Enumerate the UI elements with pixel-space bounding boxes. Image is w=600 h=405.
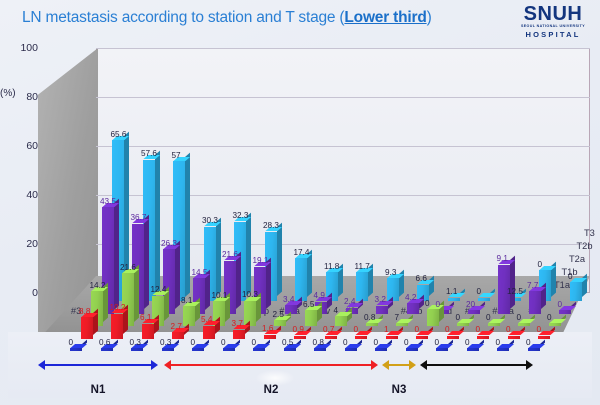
bar-side-face [175,240,180,309]
bar-side-face [277,223,282,297]
bar-value-label: 6.5 [303,300,314,309]
annotation-arrow-head [371,360,378,370]
bar-value-label: 0.3 [160,338,171,347]
bar-value-label: 4.2 [405,293,416,302]
bar-front-face [295,258,307,301]
bar-value-label: 0 [477,287,482,296]
bar-front-face [192,348,204,351]
bar-front-face [538,336,550,339]
bar-front-face [81,317,93,339]
bar-value-label: 12.5 [507,287,523,296]
bar-value-label: 11.7 [355,262,370,271]
y-axis: (%) 020406080100 [0,48,40,308]
bar-value-label: 10.2 [110,303,126,312]
bar-value-label: 4 [334,306,339,315]
bar-front-face [375,348,387,351]
bar-value-label: 9.1 [497,254,508,263]
bar-value-label: 7.7 [527,281,538,290]
annotation-arrow-head [420,360,427,370]
bar-side-face [216,218,221,297]
logo-full-name: SEOUL NATIONAL UNIVERSITY [514,25,592,29]
bar-value-label: 17.4 [294,248,310,257]
bars-layer: 65.657.65730.332.328.317.411.811.79.36.6… [38,48,590,348]
bar-station-4Sa-T1a [497,348,509,351]
y-axis-tick: 80 [2,91,38,103]
bar-value-label: 6.6 [416,274,427,283]
bar-station-4Sb-T1a [406,348,418,351]
bar-front-face [172,332,184,339]
bar-value-label: 3.7 [232,319,243,328]
bar-value-label: 14.5 [192,268,208,277]
bar-value-label: 3.4 [283,295,294,304]
bar-value-label: 4.9 [314,291,325,300]
annotation-arrow-head [526,360,533,370]
bar-front-face [70,348,82,351]
bar-value-label: 2.4 [344,297,355,306]
bar-value-label: 36.7 [131,213,147,222]
y-axis-tick: 20 [2,238,38,250]
bar-value-label: 0 [547,313,552,322]
bar-station-14v-T1a [314,348,326,351]
annotation-arrow-head [151,360,158,370]
bar-front-face [101,348,113,351]
bar-front-face [528,348,540,351]
bar-front-face [131,348,143,351]
bar-front-face [223,348,235,351]
bar-station-5-T1a [162,348,174,351]
bar-station-12a-T2a [305,310,317,326]
bar-side-face [246,213,251,296]
bar-front-face [142,324,154,339]
bar-side-face [582,273,587,296]
bar-station-1-T1a [375,348,387,351]
bar-station-5-T1b [172,332,184,339]
bar-front-face [253,348,265,351]
bar-value-label: 21.6 [120,263,136,272]
bar-station-11p-T3 [295,258,307,301]
bar-value-label: 0 [221,338,226,347]
bar-value-label: 0 [538,260,543,269]
annotation-arrow-head [164,360,171,370]
bar-station-14v-T3 [356,272,368,301]
legend-label-T2b: T2b [577,241,593,251]
bar-value-label: 10.3 [242,290,258,299]
bar-station-9-T2b [376,306,388,314]
bar-station-14v-T2a [335,316,347,326]
bar-station-6-T1a [101,348,113,351]
bar-station-8-T1b [233,330,245,339]
bar-station-7-T1b [203,326,215,339]
y-axis-tick: 100 [2,42,38,54]
bar-station-4Sb-T2a [427,309,439,326]
nodal-group-label-N2: N2 [264,384,279,396]
bar-front-face [111,314,123,339]
y-axis-tick: 60 [2,140,38,152]
nodal-group-label-N1: N1 [91,384,106,396]
bar-front-face [305,310,317,326]
bar-station-1-T2b [407,303,419,313]
bar-value-label: 0 [252,338,257,347]
bar-value-label: 0 [374,338,379,347]
bar-station-4d-T1a [131,348,143,351]
bar-value-label: 9.3 [385,268,396,277]
bar-side-face [185,153,190,297]
bar-front-face [570,282,582,301]
bar-station-3-T1a [70,348,82,351]
bar-front-face [559,310,571,313]
bar-front-face [427,309,439,326]
bar-front-face [335,316,347,326]
title-suffix: ) [427,9,432,26]
bar-value-label: 0 [526,338,531,347]
title-prefix: LN metastasis according to station and T… [22,9,344,26]
bar-front-face [233,330,245,339]
bar-value-label: 2.7 [171,322,182,331]
bar-value-label: 0 [415,325,420,334]
bar-front-face [468,310,480,313]
bar-value-label: 0 [404,338,409,347]
bar-value-label: 14.2 [90,281,106,290]
logo-subtitle: HOSPITAL [514,31,592,39]
bar-front-face [376,306,388,314]
bar-front-face [345,348,357,351]
bar-value-label: 30.3 [202,216,218,225]
bar-front-face [497,348,509,351]
bar-value-label: 12.4 [151,285,167,294]
bar-value-label: 0 [465,338,470,347]
bar-station-12a-T1b [294,336,306,339]
bar-station-2-T2b [559,310,571,313]
bar-station-9-T1a [345,348,357,351]
bar-station-11d-T2b [468,310,480,313]
bar-station-6-T1b [111,314,123,339]
bar-station-3-T1b [81,317,93,339]
bar-side-face [236,252,241,309]
bar-value-label: 0 [343,338,348,347]
bar-value-label: 57.6 [141,149,157,158]
annotation-arrow-head [38,360,45,370]
bar-value-label: 0 [191,338,196,347]
bar-station-4Sa-T2b [529,291,541,313]
bar-front-face [407,303,419,313]
bar-side-face [114,198,119,309]
bar-station-11p-T1a [253,348,265,351]
bar-value-label: 57 [172,151,181,160]
bar-value-label: 43.5 [100,197,116,206]
bar-value-label: 21.6 [222,250,238,259]
logo-mark: SNUH [514,4,592,24]
bar-value-label: 0 [496,338,501,347]
bar-value-label: 0.6 [99,338,110,347]
bar-value-label: 0.8 [313,338,324,347]
bar-value-label: 0 [435,338,440,347]
legend-label-T2a: T2a [569,254,585,264]
bar-front-face [478,298,490,301]
annotation-arrow-line [170,364,372,366]
annotation-arrow-line [44,364,152,366]
bar-value-label: 10.1 [212,291,228,300]
bar-value-label: 0.7 [323,325,334,334]
bar-front-face [436,348,448,351]
bar-value-label: 0 [354,325,359,334]
bar-station-2-T1b [538,336,550,339]
bar-value-label: 0 [69,338,74,347]
bar-front-face [467,348,479,351]
annotation-arrow-head [382,360,389,370]
bar-value-label: 8.1 [181,296,192,305]
bar-value-label: 0 [568,272,573,281]
bar-value-label: 0 [558,300,563,309]
y-axis-tick: 40 [2,189,38,201]
bar-station-10-T1b [477,336,489,339]
bar-station-9-T1b [355,336,367,339]
bar-side-face [510,256,515,309]
bar-value-label: 20 [466,300,475,309]
bar-front-face [477,336,489,339]
bar-value-label: 8.8 [79,307,90,316]
annotation-arrow-line [426,364,527,366]
bar-value-label: 32.3 [233,211,249,220]
bar-value-label: 1.6 [262,324,273,333]
bar-front-face [406,348,418,351]
bar-station-11d-T1a [436,348,448,351]
page-title: LN metastasis according to station and T… [22,9,432,27]
y-axis-tick: 0 [2,287,38,299]
bar-station-4Sb-T1b [416,336,428,339]
annotation-arrow-head [409,360,416,370]
annotation-arrow-line [388,364,410,366]
title-bar: LN metastasis according to station and T… [0,0,600,42]
bar-value-label: 65.6 [111,130,127,139]
bar-side-face [155,151,160,296]
legend-label-T3: T3 [584,228,595,238]
bar-value-label: 0 [425,299,430,308]
bar-value-label: 6.1 [140,313,151,322]
bar-value-label: 0.3 [130,338,141,347]
bar-value-label: 0 [445,325,450,334]
bar-front-face [356,272,368,301]
bar-value-label: 1.1 [446,287,457,296]
bar-value-label: 0 [486,313,491,322]
bar-value-label: 0 [537,325,542,334]
bar-value-label: 7 [395,313,400,322]
nodal-group-label-N3: N3 [392,384,407,396]
bar-value-label: 19.1 [253,256,269,265]
bar-front-face [416,336,428,339]
bar-front-face [294,336,306,339]
bar-station-12a-T1a [284,348,296,351]
bar-front-face [284,348,296,351]
bar-station-2-T1a [528,348,540,351]
bar-station-11d-T3 [478,298,490,301]
bar-value-label: 0.8 [364,313,375,322]
bar-front-face [162,348,174,351]
bar-value-label: 11.8 [324,262,339,271]
bar-value-label: 0 [436,300,441,309]
bar-value-label: 5.4 [201,315,212,324]
bar-value-label: 28.3 [263,221,279,230]
snuh-logo: SNUH SEOUL NATIONAL UNIVERSITY HOSPITAL [514,4,592,38]
bar-front-face [529,291,541,313]
bar-value-label: 0 [517,313,522,322]
bar-side-face [144,215,149,309]
bar-value-label: 3.2 [375,295,386,304]
bar-value-label: 0.9 [293,325,304,334]
bar-value-label: 0 [456,313,461,322]
bar-front-face [355,336,367,339]
bar-value-label: 0 [506,325,511,334]
bar-value-label: 26.3 [161,239,177,248]
bar-station-10-T1a [467,348,479,351]
bar-front-face [203,326,215,339]
bar-station-7-T1a [192,348,204,351]
bar-station-4d-T1b [142,324,154,339]
title-emphasis: Lower third [344,9,426,26]
bar-value-label: 1 [384,325,389,334]
bar-station-8-T1a [223,348,235,351]
legend-label-T1a: T1a [554,280,570,290]
bar-front-face [314,348,326,351]
bar-value-label: 0.5 [282,338,293,347]
bar-station-2-T3 [570,282,582,301]
bar-value-label: 2.5 [273,310,284,319]
bar-value-label: 0 [476,325,481,334]
